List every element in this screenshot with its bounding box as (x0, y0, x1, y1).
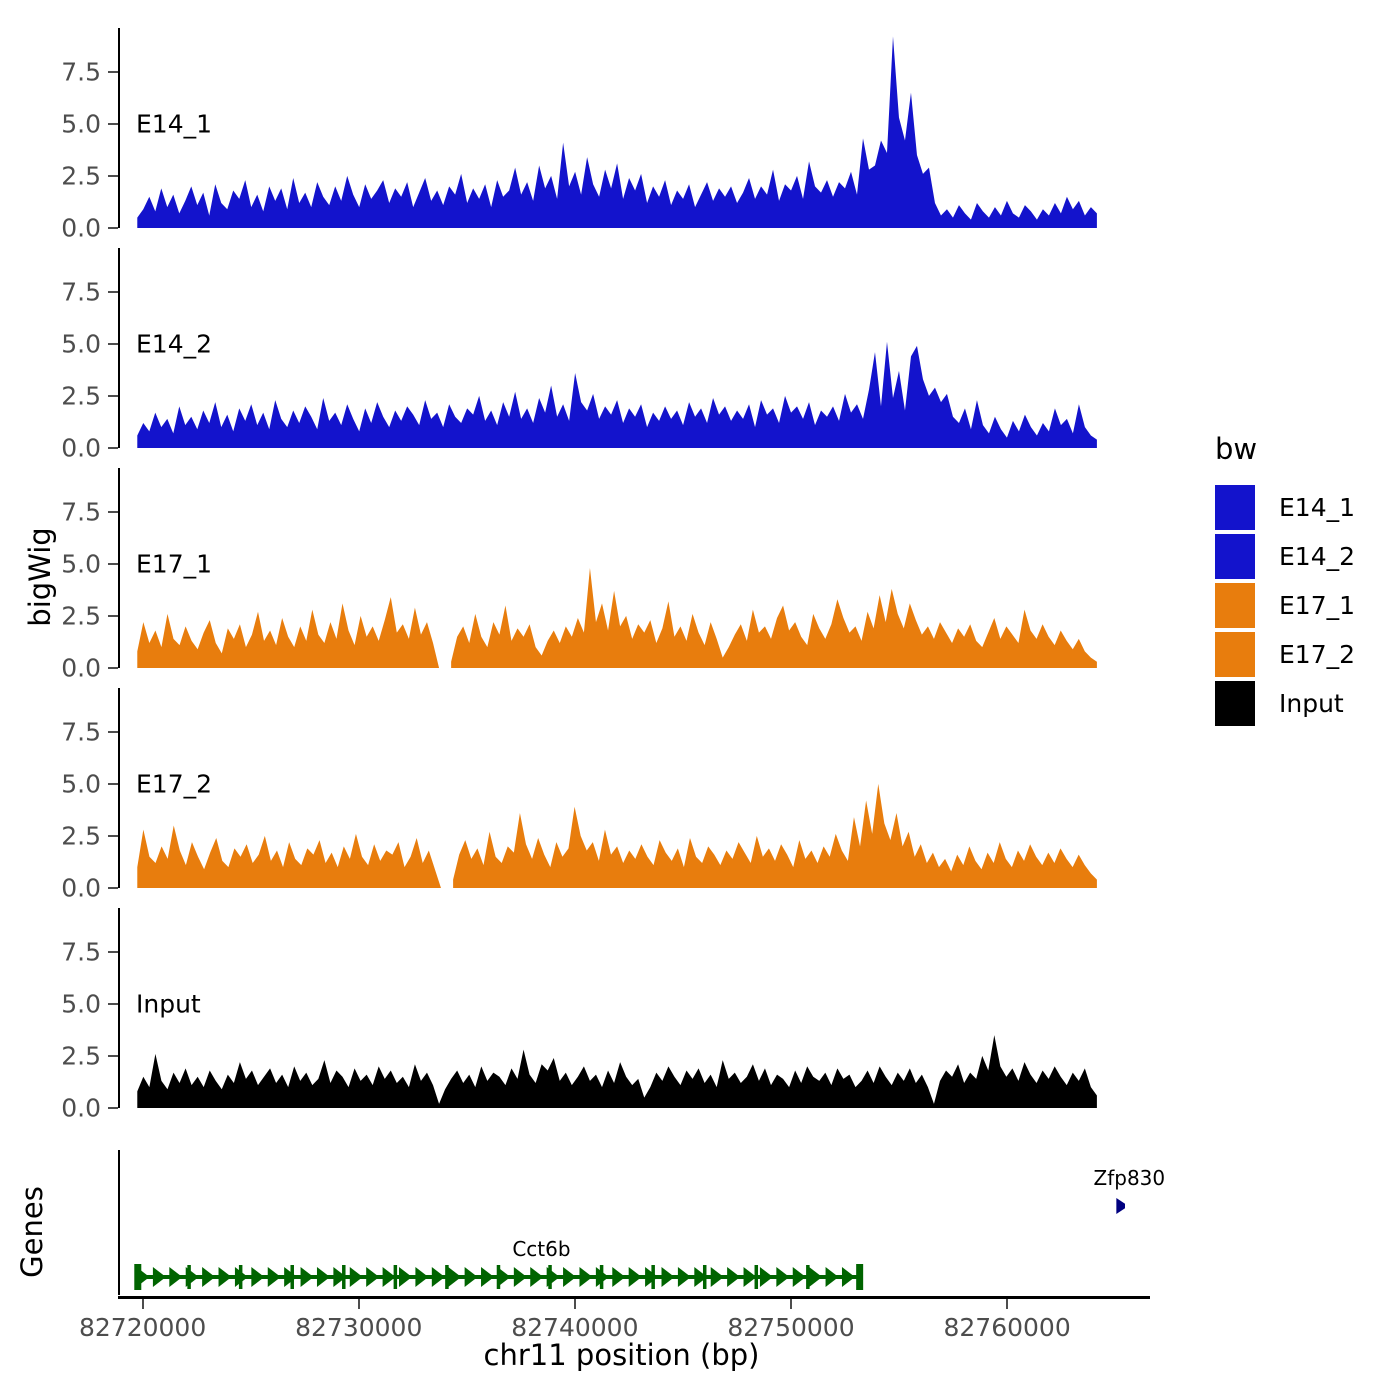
x-axis-title: chr11 position (bp) (118, 1338, 1125, 1372)
track-panel-e17_1: 0.02.55.07.5E17_1 (118, 468, 1125, 668)
legend-label: E17_1 (1279, 591, 1355, 620)
gene-cct6b[interactable] (134, 1264, 863, 1290)
y-tick (108, 511, 118, 513)
y-tick-label: 0.0 (61, 654, 101, 683)
gene-label-zfp830: Zfp830 (1094, 1166, 1166, 1190)
gene-zfp830[interactable] (1116, 1193, 1125, 1219)
y-tick (108, 1055, 118, 1057)
y-tick-label: 2.5 (61, 821, 101, 850)
y-tick-label: 0.0 (61, 434, 101, 463)
y-tick (108, 667, 118, 669)
legend-swatch (1215, 485, 1255, 530)
x-tick (1006, 1299, 1008, 1309)
y-tick (108, 71, 118, 73)
y-tick-label: 7.5 (61, 497, 101, 526)
y-tick-label: 7.5 (61, 277, 101, 306)
track-plot-area (120, 908, 1125, 1108)
x-tick (358, 1299, 360, 1309)
y-tick (108, 1107, 118, 1109)
y-tick-label: 2.5 (61, 1041, 101, 1070)
y-tick-label: 7.5 (61, 717, 101, 746)
y-tick-label: 2.5 (61, 161, 101, 190)
y-axis-title: bigWig (23, 477, 57, 677)
y-tick (108, 835, 118, 837)
legend-item-e14_1[interactable]: E14_1 (1215, 484, 1355, 531)
y-tick (108, 615, 118, 617)
y-tick (108, 343, 118, 345)
legend-item-e17_1[interactable]: E17_1 (1215, 582, 1355, 629)
legend-swatch (1215, 534, 1255, 579)
y-tick-label: 5.0 (61, 329, 101, 358)
genes-plot-area: Zfp830Cct6b (120, 1150, 1125, 1295)
y-tick-label: 2.5 (61, 381, 101, 410)
track-plot-area (120, 688, 1125, 888)
y-tick-label: 0.0 (61, 1094, 101, 1123)
legend-label: Input (1279, 689, 1344, 718)
legend-title: bw (1215, 432, 1355, 466)
legend-label: E14_2 (1279, 542, 1355, 571)
x-tick (790, 1299, 792, 1309)
track-plot-area (120, 28, 1125, 228)
y-tick (108, 887, 118, 889)
y-tick (108, 291, 118, 293)
y-tick (108, 447, 118, 449)
track-panel-e17_2: 0.02.55.07.5E17_2 (118, 688, 1125, 888)
y-tick (108, 563, 118, 565)
x-tick (574, 1299, 576, 1309)
legend-label: E14_1 (1279, 493, 1355, 522)
y-tick-label: 5.0 (61, 549, 101, 578)
y-tick-label: 5.0 (61, 989, 101, 1018)
gene-label-cct6b: Cct6b (512, 1237, 570, 1261)
legend-swatch (1215, 632, 1255, 677)
legend-items: E14_1E14_2E17_1E17_2Input (1215, 484, 1355, 727)
y-tick-label: 5.0 (61, 769, 101, 798)
y-tick (108, 1003, 118, 1005)
genes-track-panel: Zfp830Cct6b (118, 1150, 1125, 1295)
legend-label: E17_2 (1279, 640, 1355, 669)
y-tick (108, 123, 118, 125)
y-tick (108, 783, 118, 785)
genes-axis-title: Genes (15, 1152, 49, 1312)
y-tick-label: 2.5 (61, 601, 101, 630)
y-tick-label: 7.5 (61, 57, 101, 86)
legend-swatch (1215, 681, 1255, 726)
y-tick-label: 0.0 (61, 874, 101, 903)
legend: bw E14_1E14_2E17_1E17_2Input (1215, 432, 1355, 729)
y-tick-label: 7.5 (61, 937, 101, 966)
x-axis-line (118, 1296, 1150, 1299)
y-tick-label: 0.0 (61, 214, 101, 243)
y-tick (108, 951, 118, 953)
y-tick-label: 5.0 (61, 109, 101, 138)
track-plot-area (120, 468, 1125, 668)
y-tick (108, 175, 118, 177)
track-plot-area (120, 248, 1125, 448)
y-tick (108, 395, 118, 397)
x-tick (142, 1299, 144, 1309)
legend-item-e17_2[interactable]: E17_2 (1215, 631, 1355, 678)
track-panel-input: 0.02.55.07.5Input (118, 908, 1125, 1108)
y-tick (108, 227, 118, 229)
legend-item-e14_2[interactable]: E14_2 (1215, 533, 1355, 580)
track-panel-e14_2: 0.02.55.07.5E14_2 (118, 248, 1125, 448)
track-panel-e14_1: 0.02.55.07.5E14_1 (118, 28, 1125, 228)
legend-item-input[interactable]: Input (1215, 680, 1355, 727)
legend-swatch (1215, 583, 1255, 628)
y-tick (108, 731, 118, 733)
